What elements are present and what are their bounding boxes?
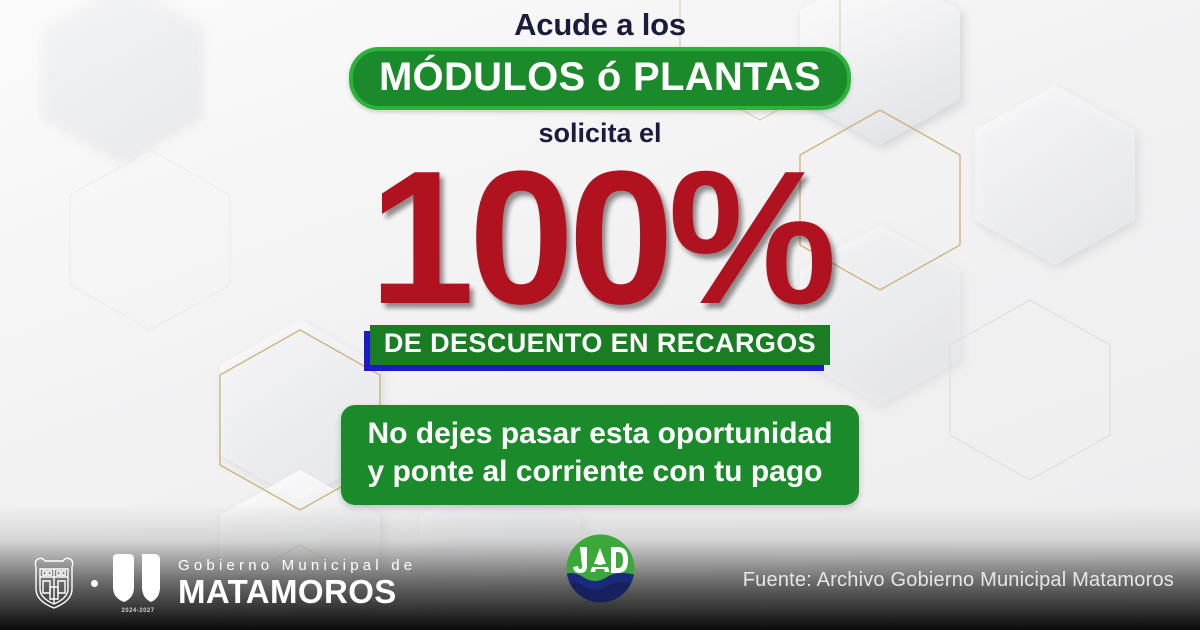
discount-percent-value: 100% xyxy=(369,148,831,329)
modulos-plantas-highlight: MÓDULOS ó PLANTAS xyxy=(349,47,851,110)
gov-line-top: Gobierno Municipal de xyxy=(178,558,416,573)
discount-percent-block: 100% xyxy=(0,148,1200,329)
matamoros-coat-of-arms-icon xyxy=(28,555,80,611)
discount-banner-text: DE DESCUENTO EN RECARGOS xyxy=(370,325,830,365)
matamoros-m-monogram-icon: 2024-2027 xyxy=(109,554,167,612)
source-credit: Fuente: Archivo Gobierno Municipal Matam… xyxy=(743,569,1174,592)
jad-water-utility-icon xyxy=(563,531,638,606)
call-to-action-box: No dejes pasar esta oportunidad y ponte … xyxy=(341,405,858,505)
government-logo-lockup: 2024-2027 Gobierno Municipal de MATAMORO… xyxy=(28,554,416,612)
government-name-text: Gobierno Municipal de MATAMOROS xyxy=(178,558,416,608)
discount-banner-holder: DE DESCUENTO EN RECARGOS xyxy=(370,325,830,365)
discount-banner-block: DE DESCUENTO EN RECARGOS xyxy=(0,325,1200,365)
cta-line-1: No dejes pasar esta oportunidad xyxy=(367,415,832,453)
footer-content: 2024-2027 Gobierno Municipal de MATAMORO… xyxy=(0,505,1200,630)
administration-years: 2024-2027 xyxy=(109,608,167,614)
call-to-action-block: No dejes pasar esta oportunidad y ponte … xyxy=(0,405,1200,505)
bullet-dot-icon xyxy=(91,580,98,587)
headline-line-1: Acude a los xyxy=(0,8,1200,42)
promotional-poster: Acude a los MÓDULOS ó PLANTAS solicita e… xyxy=(0,0,1200,630)
headline-block: Acude a los MÓDULOS ó PLANTAS solicita e… xyxy=(0,8,1200,149)
gov-line-bottom: MATAMOROS xyxy=(178,575,416,608)
cta-line-2: y ponte al corriente con tu pago xyxy=(367,453,832,491)
footer-bar: 2024-2027 Gobierno Municipal de MATAMORO… xyxy=(0,505,1200,630)
